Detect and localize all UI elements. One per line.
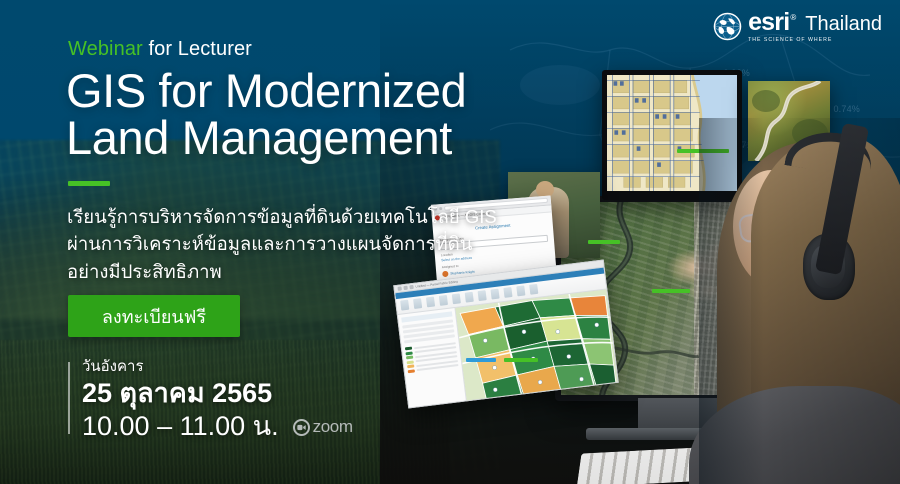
event-time-row: 10.00 – 11.00 น. zoom — [82, 410, 353, 443]
hero-content: Webinar for Lecturer GIS for Modernized … — [0, 0, 560, 484]
zoom-wordmark: zoom — [313, 417, 353, 437]
page-title: GIS for Modernized Land Management — [66, 68, 466, 161]
event-date: 25 ตุลาคม 2565 — [82, 377, 353, 410]
esri-country: Thailand — [805, 14, 882, 34]
zoom-camera-icon — [293, 419, 310, 436]
accent-bar-green-mid — [588, 240, 620, 244]
esri-wordmark: esri — [748, 10, 789, 35]
eyebrow-text: Webinar for Lecturer — [68, 38, 252, 61]
subtitle-line-2: ผ่านการวิเคราะห์ข้อมูลและการวางแผนจัดการ… — [67, 230, 537, 257]
esri-name-row: esri ® Thailand — [748, 10, 882, 35]
webinar-promo-banner: 0.74% 0.92% 0.71% 0.69% 0.78% Esri — [0, 0, 900, 484]
subtitle-line-3: อย่างมีประสิทธิภาพ — [67, 258, 537, 285]
subtitle-text: เรียนรู้การบริหารจัดการข้อมูลที่ดินด้วยเ… — [67, 203, 537, 285]
esri-globe-icon — [713, 12, 742, 41]
eyebrow-rest: for Lecturer — [143, 38, 252, 60]
event-time: 10.00 – 11.00 น. — [82, 410, 279, 443]
event-divider — [68, 362, 70, 434]
esri-thailand-logo[interactable]: esri ® Thailand THE SCIENCE OF WHERE — [713, 10, 882, 43]
title-line-1: GIS for Modernized — [66, 64, 466, 117]
event-details: วันอังคาร 25 ตุลาคม 2565 10.00 – 11.00 น… — [68, 358, 353, 443]
esri-trademark: ® — [790, 14, 796, 22]
esri-text-block: esri ® Thailand THE SCIENCE OF WHERE — [748, 10, 882, 43]
title-line-2: Land Management — [66, 115, 466, 162]
accent-bar-green-low — [652, 289, 690, 293]
zoom-logo: zoom — [293, 417, 353, 437]
esri-tagline: THE SCIENCE OF WHERE — [748, 37, 882, 43]
eyebrow-highlight: Webinar — [68, 38, 143, 60]
event-day: วันอังคาร — [82, 358, 353, 377]
subtitle-line-1: เรียนรู้การบริหารจัดการข้อมูลที่ดินด้วยเ… — [67, 203, 537, 230]
webinar-attendee-photo — [699, 118, 900, 484]
title-underline-rule — [68, 181, 110, 186]
register-free-button[interactable]: ลงทะเบียนฟรี — [68, 295, 240, 337]
